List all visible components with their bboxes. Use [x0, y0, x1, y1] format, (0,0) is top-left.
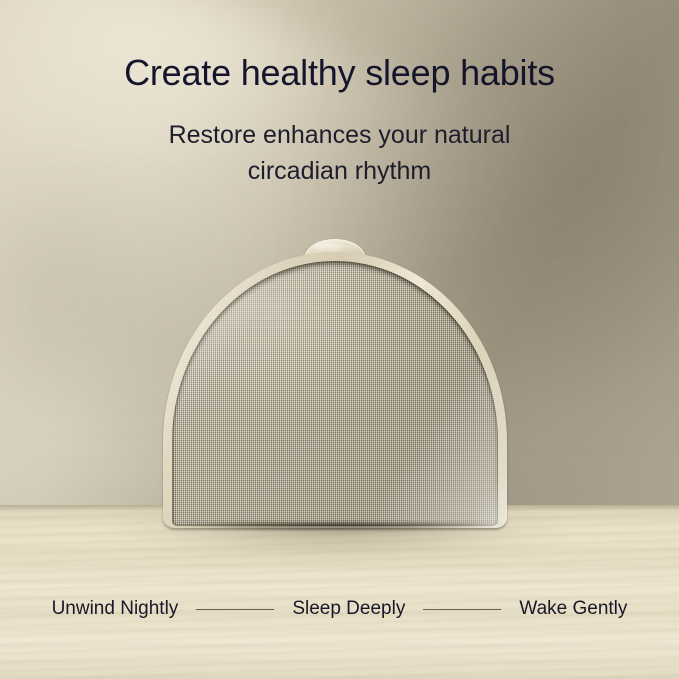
subheadline-line-2: circadian rhythm [0, 154, 679, 190]
footer-step-sleep-deeply: Sleep Deeply [292, 598, 405, 620]
table-wood-grain [0, 505, 679, 679]
footer-separator-1 [196, 609, 274, 610]
subheadline: Restore enhances your natural circadian … [0, 118, 679, 189]
subheadline-line-1: Restore enhances your natural [0, 118, 679, 154]
knob-highlight [313, 243, 343, 252]
headline: Create healthy sleep habits [0, 52, 679, 94]
product-scene: Create healthy sleep habits Restore enha… [0, 0, 679, 679]
footer-separator-2 [423, 609, 501, 610]
footer-steps: Unwind Nightly Sleep Deeply Wake Gently [0, 598, 679, 620]
table-wood-grain-secondary [0, 505, 679, 679]
footer-step-wake-gently: Wake Gently [519, 598, 627, 620]
table-surface [0, 505, 679, 679]
footer-step-unwind-nightly: Unwind Nightly [52, 598, 179, 620]
device-body [163, 252, 507, 528]
restore-sleep-device [163, 252, 507, 528]
